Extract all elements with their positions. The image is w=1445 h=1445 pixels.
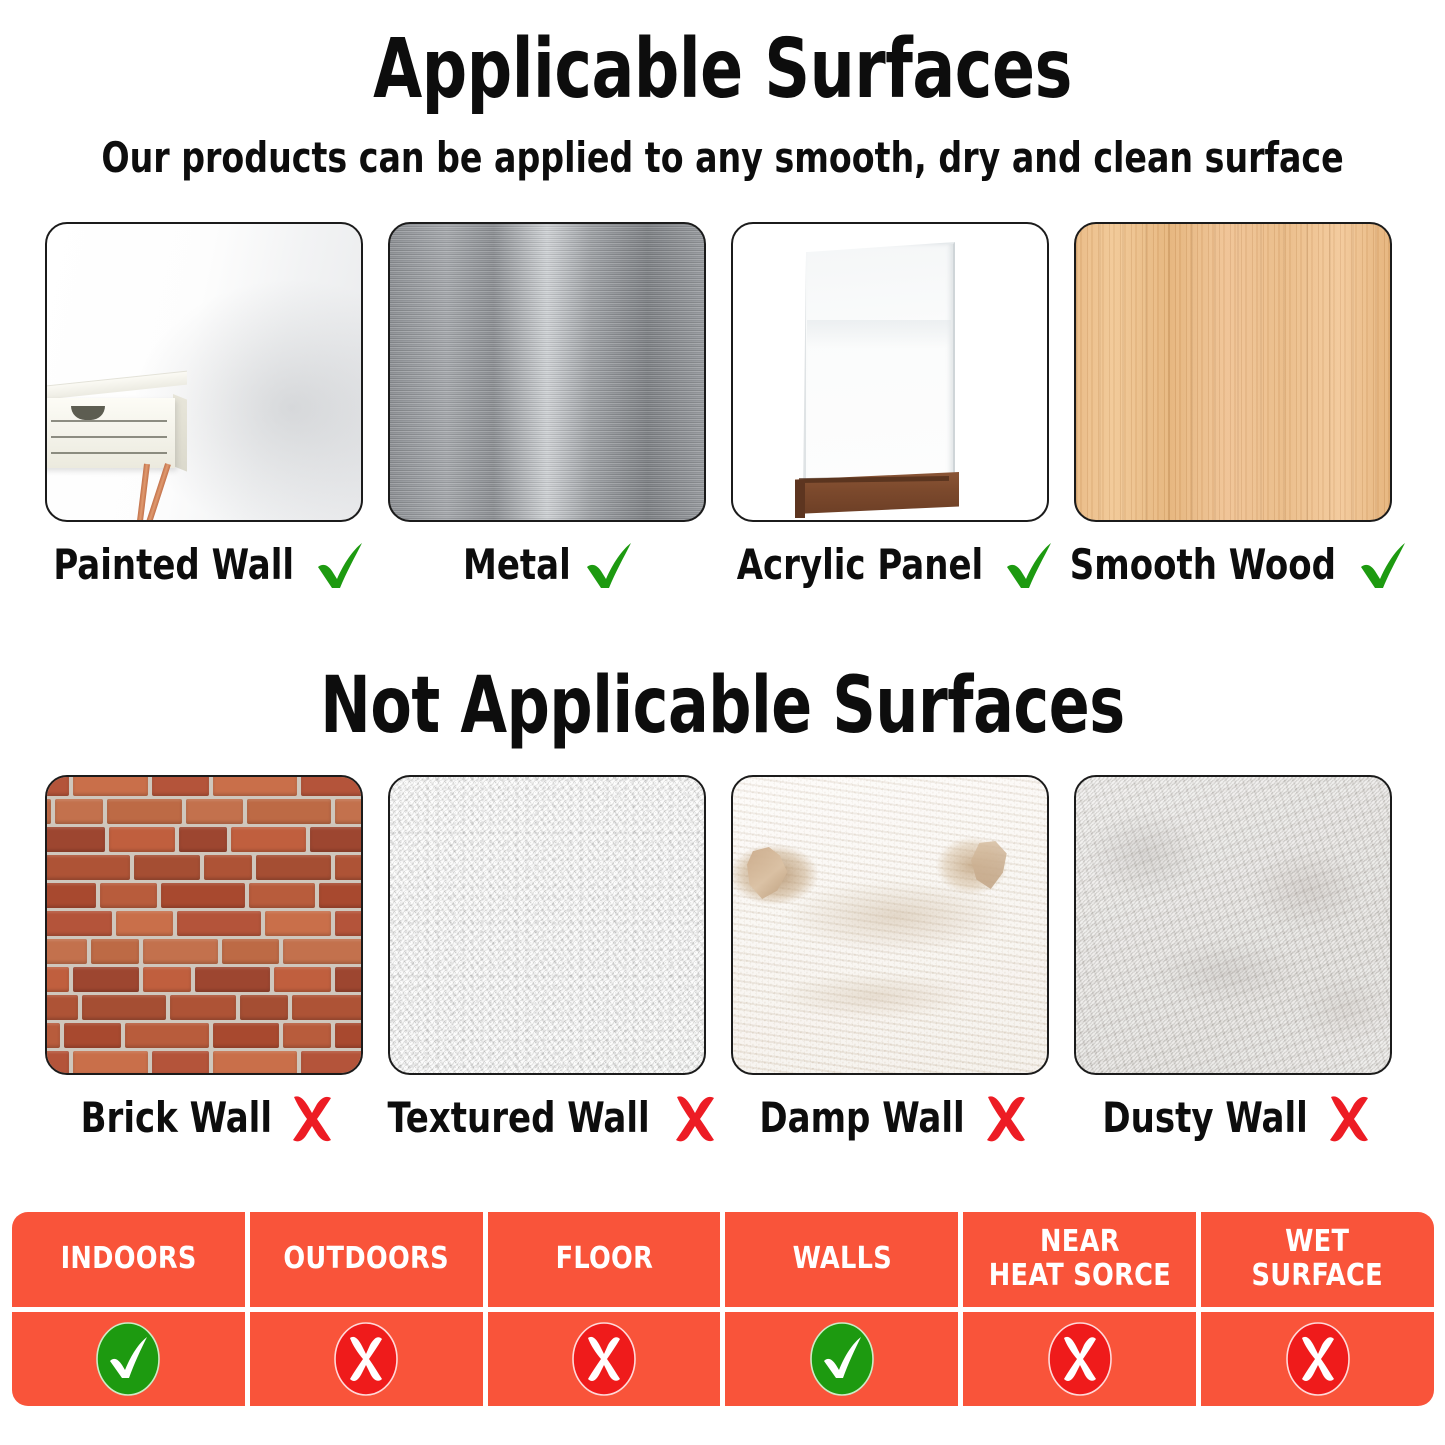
surface-label: Metal bbox=[463, 540, 571, 590]
brick bbox=[64, 1023, 121, 1048]
brick bbox=[283, 1023, 331, 1048]
brick bbox=[213, 1051, 297, 1075]
brick bbox=[283, 939, 363, 964]
brick bbox=[231, 827, 306, 852]
brick bbox=[45, 911, 112, 936]
brick bbox=[55, 799, 103, 824]
usage-matrix-label: OUTDOORS bbox=[283, 1242, 448, 1276]
brick bbox=[247, 799, 331, 824]
brick bbox=[170, 995, 236, 1020]
brick bbox=[45, 1051, 69, 1075]
brick bbox=[143, 967, 191, 992]
brick bbox=[179, 827, 227, 852]
brick bbox=[73, 967, 139, 992]
brick bbox=[45, 883, 96, 908]
check-mark-icon bbox=[1355, 538, 1411, 592]
green-check-badge bbox=[95, 1321, 161, 1397]
red-cross-badge bbox=[571, 1321, 637, 1397]
wooden-base-front bbox=[795, 480, 805, 518]
brick bbox=[82, 995, 166, 1020]
brick bbox=[204, 855, 252, 880]
usage-matrix-status-row bbox=[12, 1312, 1434, 1407]
green-check-badge bbox=[809, 1321, 875, 1397]
brick bbox=[301, 1051, 363, 1075]
surface-caption: Textured Wall bbox=[388, 1089, 706, 1147]
brick bbox=[335, 855, 363, 880]
brick bbox=[152, 1051, 209, 1075]
brick bbox=[152, 775, 209, 796]
usage-matrix-status-outdoors[interactable] bbox=[250, 1312, 483, 1407]
brick bbox=[107, 799, 182, 824]
brick-course bbox=[45, 799, 363, 824]
brick bbox=[249, 883, 315, 908]
page-subtitle: Our products can be applied to any smoot… bbox=[87, 130, 1359, 186]
brick bbox=[335, 1023, 363, 1048]
brick-course bbox=[45, 855, 363, 880]
acrylic-panel-photo bbox=[731, 222, 1049, 522]
brick bbox=[265, 911, 331, 936]
usage-matrix-header-floor[interactable]: FLOOR bbox=[488, 1212, 721, 1307]
brick-course bbox=[45, 939, 363, 964]
drawer-line bbox=[51, 436, 167, 438]
surface-caption: Acrylic Panel bbox=[731, 536, 1049, 594]
brick-course bbox=[45, 911, 363, 936]
surface-caption: Metal bbox=[388, 536, 706, 594]
surface-label: Painted Wall bbox=[54, 540, 295, 590]
brick bbox=[335, 799, 363, 824]
surface-caption: Painted Wall bbox=[45, 536, 363, 594]
brick bbox=[274, 967, 331, 992]
drawer-line bbox=[51, 452, 167, 454]
brick bbox=[335, 967, 363, 992]
usage-matrix-status-near-heat-sorce[interactable] bbox=[963, 1312, 1196, 1407]
page-title-applicable: Applicable Surfaces bbox=[101, 22, 1344, 118]
usage-matrix-header-near-heat-sorce[interactable]: NEAR HEAT SORCE bbox=[963, 1212, 1196, 1307]
damp-wall-photo bbox=[731, 775, 1049, 1075]
brick bbox=[116, 911, 173, 936]
surface-card-acrylic-panel: Acrylic Panel bbox=[731, 222, 1049, 594]
brick bbox=[125, 1023, 209, 1048]
usage-matrix-status-walls[interactable] bbox=[725, 1312, 958, 1407]
brick bbox=[46, 855, 130, 880]
brick bbox=[73, 775, 148, 796]
brick bbox=[73, 1051, 148, 1075]
red-cross-badge bbox=[1285, 1321, 1351, 1397]
brick bbox=[91, 939, 139, 964]
surface-label: Acrylic Panel bbox=[737, 540, 983, 590]
acrylic-reflection bbox=[807, 320, 951, 348]
peeling-paint-patch bbox=[971, 841, 1009, 889]
brick bbox=[177, 911, 261, 936]
brick bbox=[100, 883, 157, 908]
surface-caption: Damp Wall bbox=[731, 1089, 1049, 1147]
surface-card-brick-wall: Brick Wall bbox=[45, 775, 363, 1147]
brick bbox=[222, 939, 279, 964]
brick bbox=[213, 1023, 279, 1048]
brick bbox=[292, 995, 363, 1020]
usage-matrix-header-indoors[interactable]: INDOORS bbox=[12, 1212, 245, 1307]
usage-matrix-label: WET SURFACE bbox=[1252, 1225, 1383, 1293]
applicable-surfaces-row: Painted Wall Metal bbox=[45, 222, 1395, 594]
smooth-wood-photo bbox=[1074, 222, 1392, 522]
brick bbox=[45, 799, 51, 824]
brick bbox=[45, 967, 69, 992]
usage-matrix-status-indoors[interactable] bbox=[12, 1312, 245, 1407]
brick bbox=[143, 939, 218, 964]
not-applicable-surfaces-row: Brick Wall Textured Wall Da bbox=[45, 775, 1395, 1147]
surface-caption: Dusty Wall bbox=[1074, 1089, 1392, 1147]
red-cross-badge bbox=[1047, 1321, 1113, 1397]
cross-mark-icon bbox=[669, 1092, 721, 1144]
usage-matrix-header-row: INDOORSOUTDOORSFLOORWALLSNEAR HEAT SORCE… bbox=[12, 1212, 1434, 1307]
surface-card-textured-wall: Textured Wall bbox=[388, 775, 706, 1147]
surface-label: Brick Wall bbox=[80, 1093, 271, 1143]
cross-mark-icon bbox=[286, 1092, 338, 1144]
surface-card-damp-wall: Damp Wall bbox=[731, 775, 1049, 1147]
brick bbox=[240, 995, 288, 1020]
usage-matrix-header-wet-surface[interactable]: WET SURFACE bbox=[1201, 1212, 1434, 1307]
surface-label: Dusty Wall bbox=[1102, 1093, 1307, 1143]
check-mark-icon bbox=[581, 538, 637, 592]
brick-course bbox=[45, 775, 363, 796]
brick-course bbox=[45, 967, 363, 992]
check-mark-icon bbox=[312, 538, 368, 592]
brick-course bbox=[45, 827, 363, 852]
brick bbox=[134, 855, 200, 880]
brick bbox=[161, 883, 245, 908]
brick bbox=[310, 827, 363, 852]
page-title-not-applicable: Not Applicable Surfaces bbox=[101, 660, 1344, 752]
usage-matrix-label: INDOORS bbox=[60, 1242, 196, 1276]
usage-matrix-header-outdoors[interactable]: OUTDOORS bbox=[250, 1212, 483, 1307]
acrylic-sheet bbox=[803, 242, 955, 494]
surface-card-dusty-wall: Dusty Wall bbox=[1074, 775, 1392, 1147]
brick-course bbox=[45, 883, 363, 908]
surface-label: Smooth Wood bbox=[1070, 540, 1336, 590]
cross-mark-icon bbox=[980, 1092, 1032, 1144]
brick-course bbox=[45, 995, 363, 1020]
console-table-body bbox=[45, 398, 175, 468]
brick-course bbox=[45, 1023, 363, 1048]
usage-matrix-status-floor[interactable] bbox=[488, 1312, 721, 1407]
drawer-line bbox=[51, 420, 167, 422]
console-table-side bbox=[173, 394, 187, 472]
brick bbox=[45, 939, 87, 964]
brick-course bbox=[45, 1051, 363, 1075]
surface-card-smooth-wood: Smooth Wood bbox=[1074, 222, 1392, 594]
peeling-paint-patch bbox=[747, 847, 789, 899]
surface-caption: Brick Wall bbox=[45, 1089, 363, 1147]
infographic-root: Applicable Surfaces Our products can be … bbox=[0, 0, 1445, 1445]
brick bbox=[45, 827, 105, 852]
brick bbox=[45, 995, 78, 1020]
brick bbox=[256, 855, 331, 880]
usage-matrix-label: FLOOR bbox=[555, 1242, 653, 1276]
surface-label: Damp Wall bbox=[759, 1093, 964, 1143]
red-cross-badge bbox=[333, 1321, 399, 1397]
brick bbox=[109, 827, 175, 852]
brick bbox=[319, 883, 363, 908]
surface-caption: Smooth Wood bbox=[1074, 536, 1392, 594]
brick bbox=[45, 775, 69, 796]
usage-matrix: INDOORSOUTDOORSFLOORWALLSNEAR HEAT SORCE… bbox=[12, 1212, 1434, 1406]
surface-label: Textured Wall bbox=[388, 1093, 650, 1143]
check-mark-icon bbox=[1001, 538, 1057, 592]
dusty-wall-photo bbox=[1074, 775, 1392, 1075]
brick bbox=[301, 775, 363, 796]
brushed-metal-photo bbox=[388, 222, 706, 522]
brick bbox=[213, 775, 297, 796]
surface-card-painted-wall: Painted Wall bbox=[45, 222, 363, 594]
console-table-top bbox=[45, 371, 187, 400]
usage-matrix-label: WALLS bbox=[792, 1242, 891, 1276]
usage-matrix-status-wet-surface[interactable] bbox=[1201, 1312, 1434, 1407]
brick bbox=[45, 1023, 60, 1048]
usage-matrix-header-walls[interactable]: WALLS bbox=[725, 1212, 958, 1307]
cross-mark-icon bbox=[1323, 1092, 1375, 1144]
textured-wall-photo bbox=[388, 775, 706, 1075]
brick-wall-photo bbox=[45, 775, 363, 1075]
painted-wall-photo bbox=[45, 222, 363, 522]
brick bbox=[335, 911, 363, 936]
surface-card-metal: Metal bbox=[388, 222, 706, 594]
brick bbox=[195, 967, 270, 992]
usage-matrix-label: NEAR HEAT SORCE bbox=[989, 1225, 1171, 1293]
brick bbox=[186, 799, 243, 824]
